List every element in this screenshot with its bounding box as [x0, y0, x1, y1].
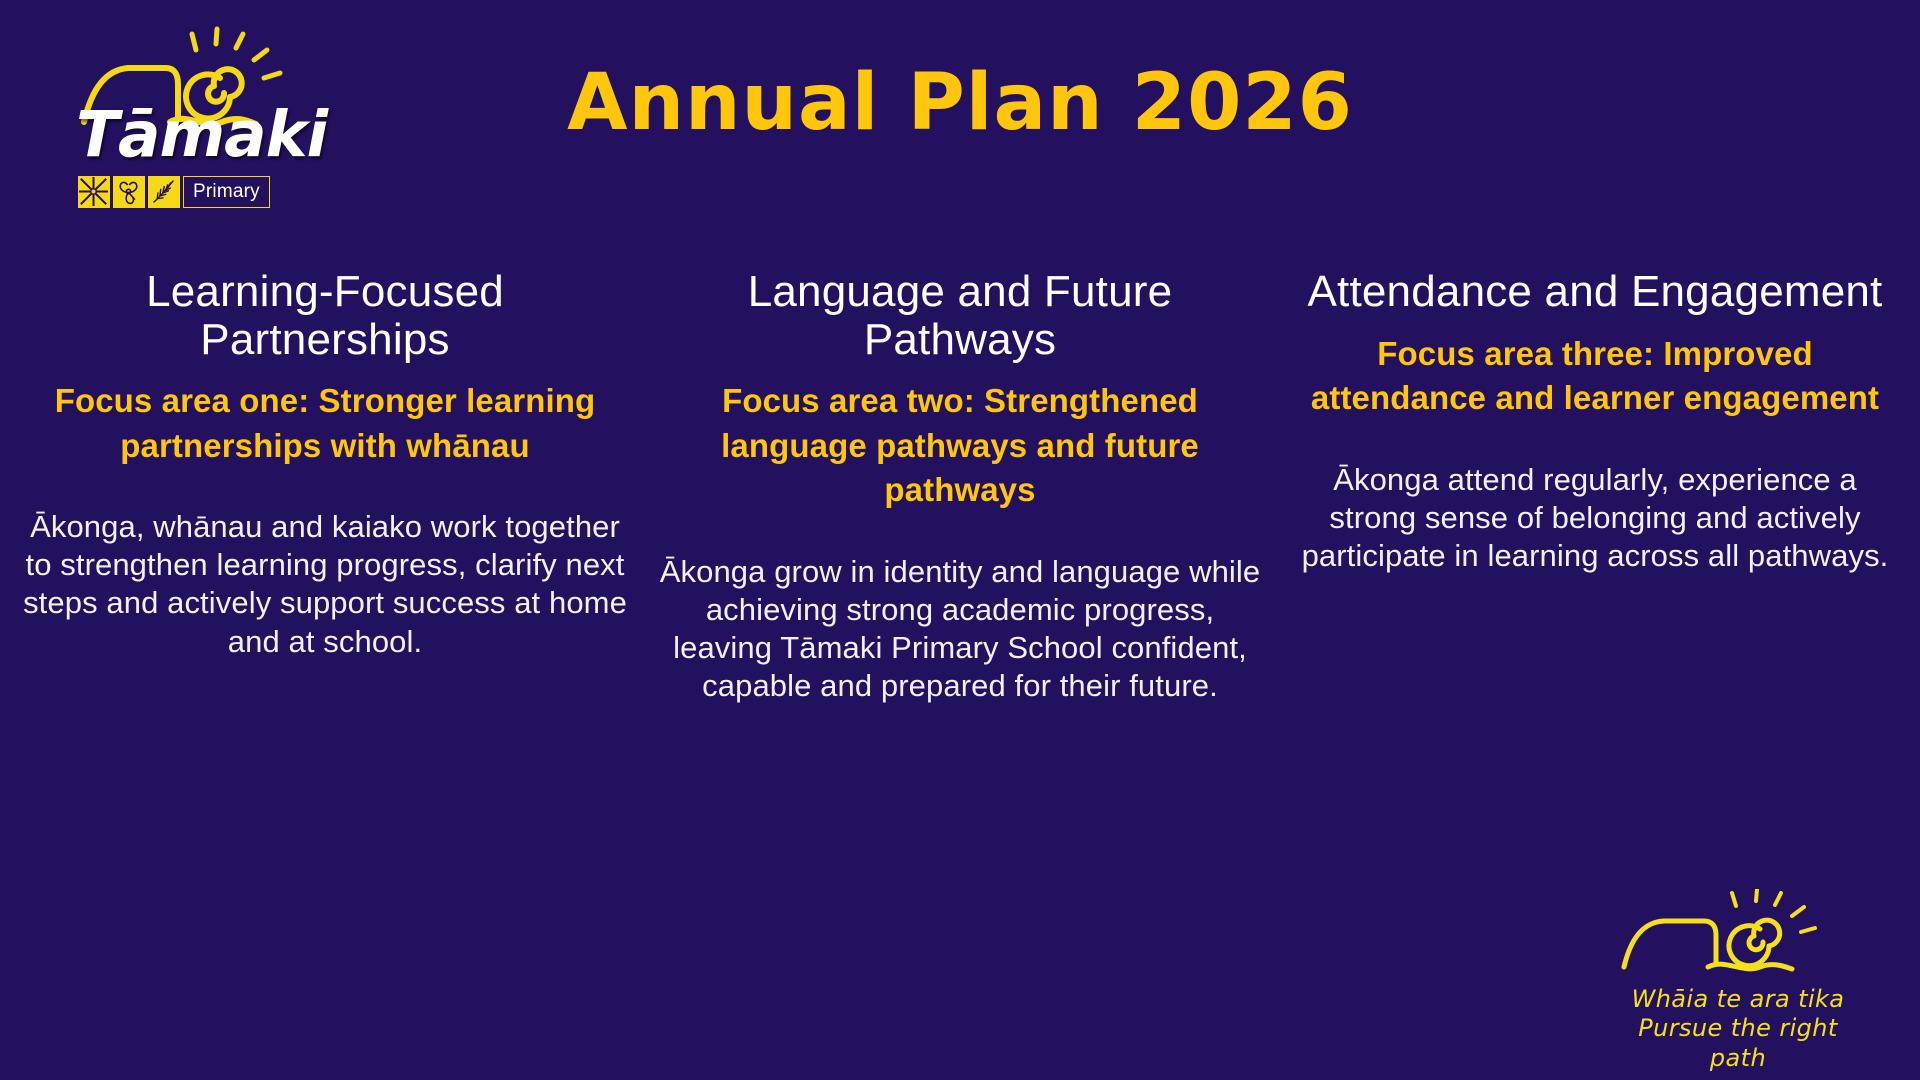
- school-badge-row: Primary: [78, 176, 270, 208]
- page-title: Annual Plan 2026: [0, 58, 1920, 148]
- hibiscus-flower-icon: [113, 176, 145, 208]
- school-motto: Whāia te ara tika Pursue the right path: [1608, 985, 1868, 1073]
- focus-column-1: Learning-Focused Partnerships Focus area…: [20, 268, 630, 705]
- column-heading: Attendance and Engagement: [1290, 268, 1900, 316]
- column-body-text: Ākonga, whānau and kaiako work together …: [20, 508, 630, 661]
- column-body-text: Ākonga grow in identity and language whi…: [655, 553, 1265, 706]
- motto-english: Pursue the right path: [1608, 1014, 1868, 1073]
- column-focus-statement: Focus area two: Strengthened language pa…: [655, 379, 1265, 513]
- fern-frond-icon: [148, 176, 180, 208]
- maunga-koru-sun-icon: [1608, 889, 1868, 999]
- column-focus-statement: Focus area one: Stronger learning partne…: [20, 379, 630, 468]
- motto-maori: Whāia te ara tika: [1608, 985, 1868, 1014]
- focus-column-2: Language and Future Pathways Focus area …: [655, 268, 1265, 705]
- school-badge-label: Primary: [183, 176, 270, 208]
- focus-area-columns: Learning-Focused Partnerships Focus area…: [0, 268, 1920, 705]
- school-motto-emblem: Whāia te ara tika Pursue the right path: [1608, 889, 1868, 1064]
- focus-column-3: Attendance and Engagement Focus area thr…: [1290, 268, 1900, 705]
- column-focus-statement: Focus area three: Improved attendance an…: [1290, 332, 1900, 421]
- column-heading: Language and Future Pathways: [655, 268, 1265, 363]
- compass-star-icon: [78, 176, 110, 208]
- column-heading: Learning-Focused Partnerships: [20, 268, 630, 363]
- column-body-text: Ākonga attend regularly, experience a st…: [1290, 461, 1900, 575]
- annual-plan-slide: Tāmaki: [0, 0, 1920, 1080]
